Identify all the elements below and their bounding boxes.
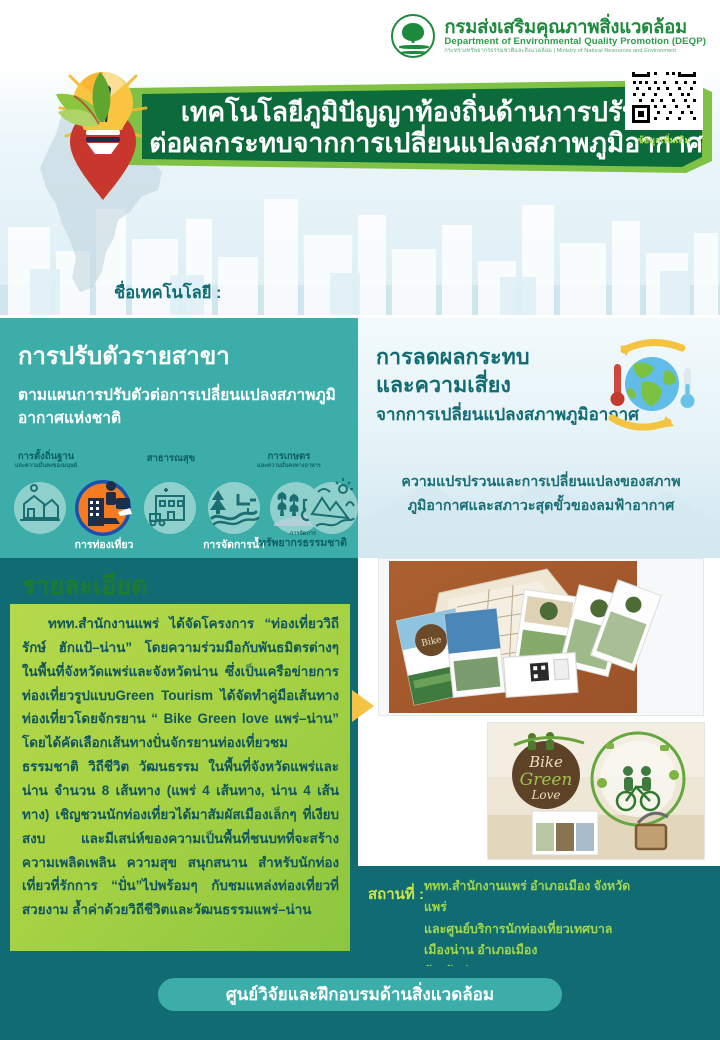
sector-caption-tourism-main: การท่องเที่ยว	[57, 539, 151, 551]
sector-caption-natural-resources: การจัดการ ทรัพยากรธรรมชาติ	[250, 531, 356, 549]
photo-brochures-maps: Bike	[378, 558, 704, 716]
technology-name-label: ชื่อเทคโนโลยี :	[114, 280, 222, 306]
sector-caption-settlement-main: การตั้งถิ่นฐาน	[0, 452, 92, 463]
location-block: สถานที่ : ททท.สำนักงานแพร่ อำเภอเมือง จั…	[358, 866, 720, 976]
svg-text:Love: Love	[530, 788, 560, 802]
sector-caption-agriculture-main: การเกษตร	[234, 452, 344, 463]
location-line-3: เมืองน่าน อำเภอเมือง	[424, 940, 648, 961]
sector-icon-water	[208, 482, 260, 534]
location-line-1: ททท.สำนักงานแพร่ อำเภอเมือง จังหวัดแพร่	[424, 876, 648, 919]
sector-caption-tourism: การท่องเที่ยว	[57, 539, 151, 551]
photo-brochures-illustration: Bike	[379, 559, 704, 716]
lightbulb-leaf-map-pin-icon	[40, 62, 160, 227]
logo-text: กรมส่งเสริมคุณภาพสิ่งแวดล้อม Department …	[444, 17, 706, 55]
title-line-1: เทคโนโลยีภูมิปัญญาท้องถิ่นด้านการปรับตัว	[181, 98, 671, 128]
sector-adaptation-panel: การปรับตัวรายสาขา ตามแผนการปรับตัวต่อการ…	[0, 318, 358, 558]
sector-caption-health: สาธารณสุข	[128, 454, 214, 465]
sector-caption-settlement: การตั้งถิ่นฐาน และความมั่นคงของมนุษย์	[0, 452, 92, 469]
tree-water-circle-logo-icon	[391, 14, 435, 58]
sector-caption-agriculture-sub: และความมั่นคงทางอาหาร	[234, 463, 344, 469]
location-label: สถานที่ :	[368, 882, 424, 906]
qr-caption: ข้อมูลเพิ่มเติม	[622, 133, 706, 147]
sector-icon-health	[144, 482, 196, 534]
impact-heading-line-2: และความเสี่ยง	[376, 372, 591, 400]
photo-bike-green-love: Bike Green Love	[487, 722, 705, 860]
deqp-logo-block: กรมส่งเสริมคุณภาพสิ่งแวดล้อม Department …	[391, 14, 706, 58]
impact-heading-line-1: การลดผลกระทบ	[376, 344, 591, 372]
poster-root: กรมส่งเสริมคุณภาพสิ่งแวดล้อม Department …	[0, 0, 720, 1040]
sector-icon-settlement	[14, 482, 66, 534]
impact-body-line-2: ภูมิอากาศและสภาวะสุดขั้วของลมฟ้าอากาศ	[374, 494, 708, 518]
main-title: เทคโนโลยีภูมิปัญญาท้องถิ่นด้านการปรับตัว…	[152, 88, 700, 168]
sector-caption-nr-main: ทรัพยากรธรรมชาติ	[250, 537, 356, 549]
photo-bike-green-love-illustration: Bike Green Love	[488, 723, 705, 860]
globe-thermometer-cycle-icon	[590, 336, 702, 432]
sector-caption-agriculture: การเกษตร และความมั่นคงทางอาหาร	[234, 452, 344, 469]
impact-heading: การลดผลกระทบ และความเสี่ยง	[376, 344, 591, 399]
impact-reduction-panel: การลดผลกระทบ และความเสี่ยง จากการเปลี่ยน…	[358, 318, 720, 558]
hero-section: เทคโนโลยีภูมิปัญญาท้องถิ่นด้านการปรับตัว…	[0, 62, 720, 315]
sector-icon-tourism	[75, 480, 132, 536]
detail-heading: รายละเอียด	[22, 566, 147, 606]
header: กรมส่งเสริมคุณภาพสิ่งแวดล้อม Department …	[0, 0, 720, 72]
sector-caption-nr-sub: การจัดการ	[250, 531, 356, 537]
location-line-2: และศูนย์บริการนักท่องเที่ยวเทศบาล	[424, 919, 648, 940]
sector-caption-health-main: สาธารณสุข	[128, 454, 214, 465]
sector-panel-subheading: ตามแผนการปรับตัวต่อการเปลี่ยนแปลงสภาพภูม…	[18, 384, 338, 431]
org-ministry-line: กระทรวงทรัพยากรธรรมชาติและสิ่งแวดล้อม | …	[444, 49, 706, 55]
title-line-2: ต่อผลกระทบจากการเปลี่ยนแปลงสภาพภูมิอากาศ	[149, 129, 703, 159]
sector-icon-natural-resources	[306, 478, 358, 534]
detail-section: รายละเอียด ททท.สำนักงานแพร่ ได้จัดโครงกา…	[0, 558, 358, 966]
detail-body-text: ททท.สำนักงานแพร่ ได้จัดโครงการ “ท่องเที่…	[22, 612, 339, 922]
org-name-th: กรมส่งเสริมคุณภาพสิ่งแวดล้อม	[444, 17, 706, 36]
svg-text:Bike: Bike	[528, 753, 563, 771]
impact-body-line-1: ความแปรปรวนและการเปลี่ยนแปลงของสภาพ	[374, 470, 708, 494]
impact-body-text: ความแปรปรวนและการเปลี่ยนแปลงของสภาพ ภูมิ…	[374, 470, 708, 519]
sector-panel-heading: การปรับตัวรายสาขา	[18, 336, 358, 375]
svg-text:Green: Green	[520, 770, 573, 790]
footer-pill: ศูนย์วิจัยและฝึกอบรมด้านสิ่งแวดล้อม	[158, 978, 562, 1011]
org-name-en: Department of Environmental Quality Prom…	[444, 37, 706, 47]
sector-caption-settlement-sub: และความมั่นคงของมนุษย์	[0, 463, 92, 469]
footer-text: ศูนย์วิจัยและฝึกอบรมด้านสิ่งแวดล้อม	[226, 981, 494, 1008]
detail-body-box: ททท.สำนักงานแพร่ ได้จัดโครงการ “ท่องเที่…	[10, 604, 350, 951]
right-arrow-icon	[352, 688, 382, 724]
